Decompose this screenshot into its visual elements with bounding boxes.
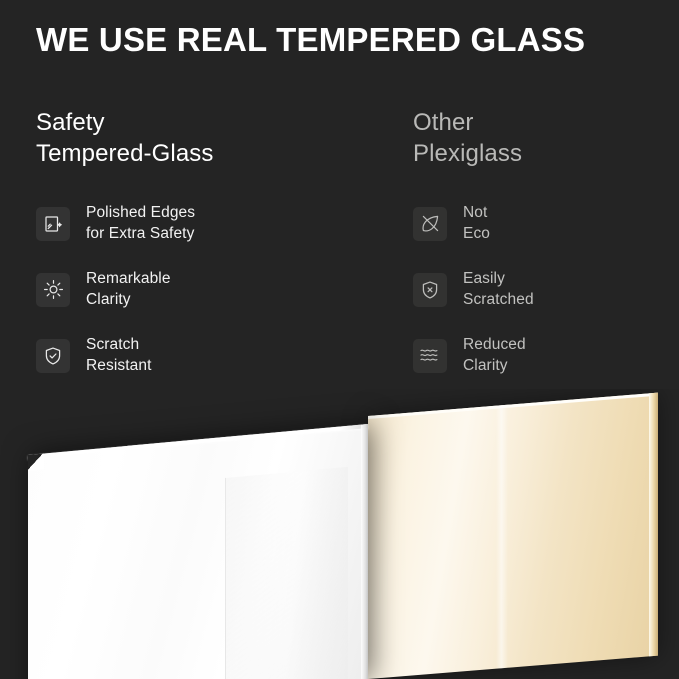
plexiglass-panel — [368, 393, 658, 679]
feature-label: Easily Scratched — [463, 269, 534, 310]
shield-x-icon — [413, 273, 447, 307]
product-photo — [0, 389, 679, 679]
plexiglass-panel-right-edge — [649, 393, 658, 657]
feature-label: Not Eco — [463, 203, 490, 244]
comparison-columns: Safety Tempered-Glass Polished Edges for… — [0, 108, 679, 399]
tempered-glass-panel — [28, 424, 368, 679]
plexiglass-panel-sheen — [496, 405, 508, 669]
tempered-glass-panel-right-edge — [361, 424, 368, 679]
leaf-crossed-out-icon — [413, 207, 447, 241]
tempered-glass-panel-top-edge — [28, 424, 368, 459]
feature-label: Reduced Clarity — [463, 335, 526, 376]
page-title: WE USE REAL TEMPERED GLASS — [36, 20, 585, 60]
tempered-glass-panel-reflection — [225, 467, 347, 679]
plexiglass-panel-top-edge — [368, 393, 658, 419]
tempered-glass-panel-corner-bevel — [28, 453, 44, 470]
column-plexiglass: Other Plexiglass Not Eco — [0, 108, 413, 399]
wavy-lines-icon — [413, 339, 447, 373]
